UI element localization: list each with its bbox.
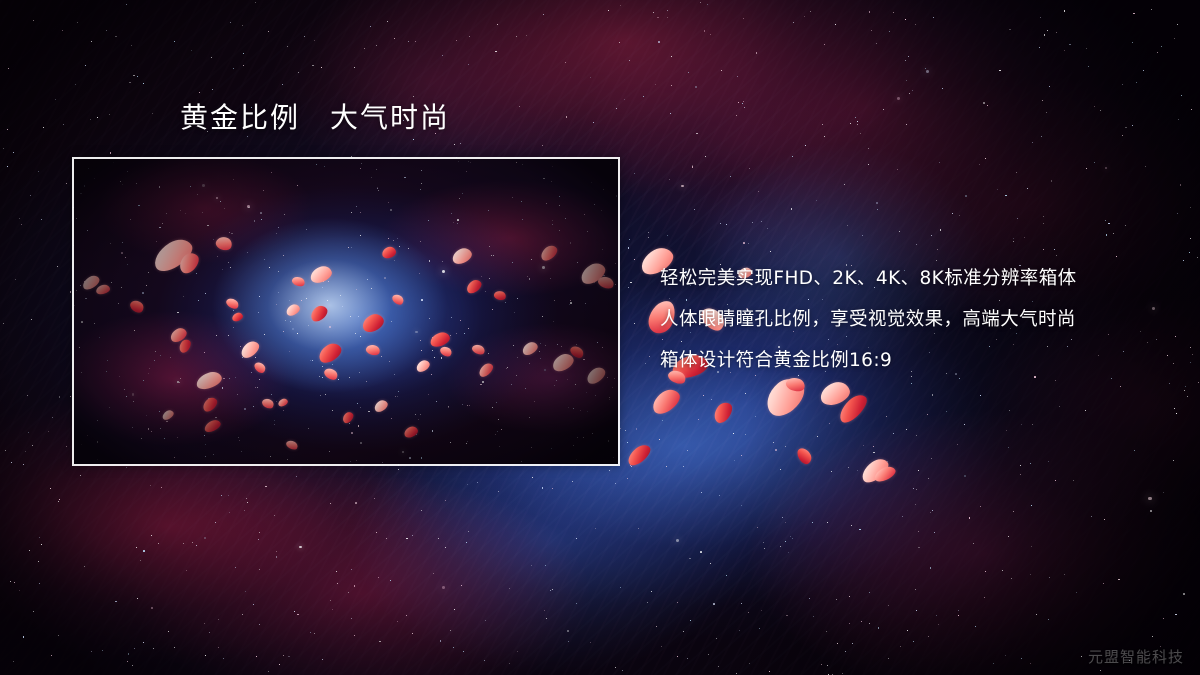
slide-canvas: 黄金比例 大气时尚 轻松完美实现FHD、2K、4K、8K标准分辨率箱体 人体眼睛… (0, 0, 1200, 675)
petal (624, 441, 653, 468)
body-copy: 轻松完美实现FHD、2K、4K、8K标准分辨率箱体 人体眼睛瞳孔比例，享受视觉效… (660, 258, 1160, 381)
page-title: 黄金比例 大气时尚 (180, 101, 450, 135)
petal (795, 446, 814, 467)
body-line-1: 轻松完美实现FHD、2K、4K、8K标准分辨率箱体 (660, 258, 1160, 299)
framed-image-vignette (74, 159, 618, 464)
petal (648, 385, 683, 418)
petal (710, 399, 735, 426)
body-line-3: 箱体设计符合黄金比例16:9 (660, 340, 1160, 381)
framed-image (72, 157, 620, 466)
framed-image-inner (74, 159, 618, 464)
watermark-label: 元盟智能科技 (1088, 646, 1184, 667)
body-line-2: 人体眼睛瞳孔比例，享受视觉效果，高端大气时尚 (660, 299, 1160, 340)
